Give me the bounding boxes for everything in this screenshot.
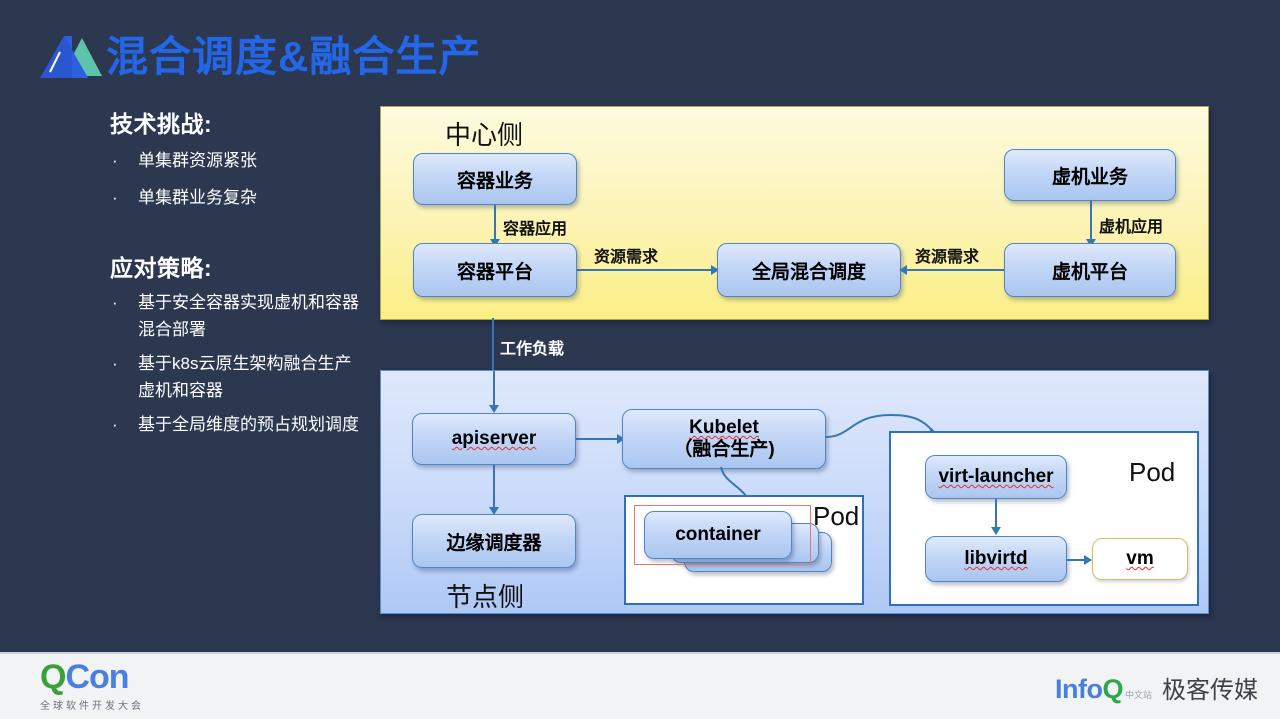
node-global-scheduler[interactable]: 全局混合调度: [717, 243, 901, 297]
arrowhead-right-icon: [1084, 555, 1092, 565]
node-label: apiserver: [452, 428, 537, 450]
node-label-line2: （融合生产): [673, 439, 774, 461]
qcon-logo: QCon 全球软件开发大会: [40, 660, 144, 712]
edge-label-resource-demand-right: 资源需求: [915, 243, 979, 267]
challenge-list: · 单集群资源紧张 · 单集群业务复杂: [96, 145, 366, 215]
strategy-heading: 应对策略:: [110, 249, 366, 283]
node-container[interactable]: container: [644, 511, 792, 559]
left-content-column: 技术挑战: · 单集群资源紧张 · 单集群业务复杂 应对策略: · 基于安全容器…: [96, 105, 366, 444]
pod-label-right: Pod: [1129, 457, 1175, 488]
list-item: · 基于k8s云原生架构融合生产虚机和容器: [96, 350, 366, 405]
node-vm[interactable]: vm: [1092, 538, 1188, 580]
mountain-triangles-logo: [38, 28, 102, 86]
node-apiserver[interactable]: apiserver: [412, 413, 576, 465]
qcon-subtitle: 全球软件开发大会: [40, 697, 144, 712]
node-label: 容器平台: [457, 257, 533, 284]
node-label: vm: [1126, 548, 1153, 570]
node-vm-platform[interactable]: 虚机平台: [1004, 243, 1176, 297]
node-panel-title: 节点侧: [446, 577, 524, 614]
node-side-panel: 节点侧 apiserver Kubelet （融合生产) 边缘调度器 Pod c…: [380, 370, 1209, 614]
node-label: 虚机平台: [1052, 257, 1128, 284]
infoq-chinese-name: 极客传媒: [1162, 670, 1258, 705]
bullet-dot: ·: [112, 145, 118, 177]
node-label: 容器业务: [457, 166, 533, 193]
challenge-heading: 技术挑战:: [110, 105, 366, 139]
list-item: · 基于安全容器实现虚机和容器混合部署: [96, 289, 366, 344]
infoq-info-letters: Info: [1055, 674, 1102, 704]
edge-container-business-to-platform: [494, 205, 496, 243]
node-label: 全局混合调度: [752, 257, 866, 284]
node-libvirtd[interactable]: libvirtd: [925, 536, 1067, 582]
edge-label-container-app: 容器应用: [503, 215, 567, 239]
list-item-label: 单集群资源紧张: [138, 151, 257, 170]
infoq-q-letter: Q: [1102, 674, 1123, 704]
edge-workload-into-apiserver: [493, 371, 495, 407]
challenge-block: 技术挑战: · 单集群资源紧张 · 单集群业务复杂: [96, 105, 366, 215]
node-label: virt-launcher: [938, 466, 1053, 488]
edge-label-vm-app: 虚机应用: [1099, 213, 1163, 237]
strategy-list: · 基于安全容器实现虚机和容器混合部署 · 基于k8s云原生架构融合生产虚机和容…: [96, 289, 366, 439]
qcon-con-letters: Con: [65, 658, 128, 696]
node-label-line1: Kubelet: [689, 417, 759, 439]
edge-workload-link: [492, 318, 494, 370]
slide-header: 混合调度&融合生产: [0, 0, 1280, 100]
edge-label-workload: 工作负载: [500, 335, 564, 359]
list-item-label: 基于全局维度的预占规划调度: [138, 415, 359, 434]
node-edge-scheduler[interactable]: 边缘调度器: [412, 514, 576, 568]
infoq-tm-mark: 中文站: [1125, 688, 1152, 701]
list-item-label: 基于安全容器实现虚机和容器混合部署: [138, 293, 359, 340]
node-vm-business[interactable]: 虚机业务: [1004, 149, 1176, 201]
list-item: · 基于全局维度的预占规划调度: [96, 411, 366, 439]
list-item-label: 单集群业务复杂: [138, 188, 257, 207]
edge-apiserver-to-edge-scheduler: [493, 465, 495, 511]
node-container-platform[interactable]: 容器平台: [413, 243, 577, 297]
center-panel-title: 中心侧: [445, 115, 523, 152]
node-label: 边缘调度器: [446, 528, 541, 555]
node-kubelet[interactable]: Kubelet （融合生产): [622, 409, 826, 469]
edge-label-resource-demand-left: 资源需求: [594, 243, 658, 267]
node-container-business[interactable]: 容器业务: [413, 153, 577, 205]
edge-vm-business-to-platform: [1090, 201, 1092, 243]
strategy-block: 应对策略: · 基于安全容器实现虚机和容器混合部署 · 基于k8s云原生架构融合…: [96, 249, 366, 439]
pod-label-left: Pod: [813, 501, 859, 532]
arrowhead-left-icon: [899, 265, 907, 275]
edge-container-platform-to-scheduler: [577, 269, 717, 271]
center-side-panel: 中心侧 容器业务 容器应用 容器平台 资源需求 全局混合调度 资源需求 虚机业务…: [380, 106, 1209, 320]
bullet-dot: ·: [112, 411, 118, 439]
node-label: 虚机业务: [1052, 162, 1128, 189]
bullet-dot: ·: [112, 350, 118, 378]
slide-footer: QCon 全球软件开发大会 InfoQ 中文站 极客传媒: [0, 652, 1280, 719]
node-label: libvirtd: [964, 548, 1027, 570]
page-title: 混合调度&融合生产: [106, 32, 481, 82]
edge-vm-platform-to-scheduler: [901, 269, 1005, 271]
infoq-wordmark: InfoQ: [1055, 674, 1123, 705]
qcon-wordmark: QCon: [40, 660, 144, 694]
bullet-dot: ·: [112, 289, 118, 317]
list-item-label: 基于k8s云原生架构融合生产虚机和容器: [138, 354, 351, 401]
edge-apiserver-to-kubelet: [576, 438, 622, 440]
list-item: · 单集群业务复杂: [96, 182, 366, 214]
list-item: · 单集群资源紧张: [96, 145, 366, 177]
bullet-dot: ·: [112, 182, 118, 214]
qcon-q-letter: Q: [40, 658, 65, 696]
node-virt-launcher[interactable]: virt-launcher: [925, 455, 1067, 499]
node-label: container: [675, 524, 761, 546]
infoq-logo: InfoQ 中文站 极客传媒: [1055, 670, 1258, 705]
arrowhead-down-icon: [991, 527, 1001, 535]
